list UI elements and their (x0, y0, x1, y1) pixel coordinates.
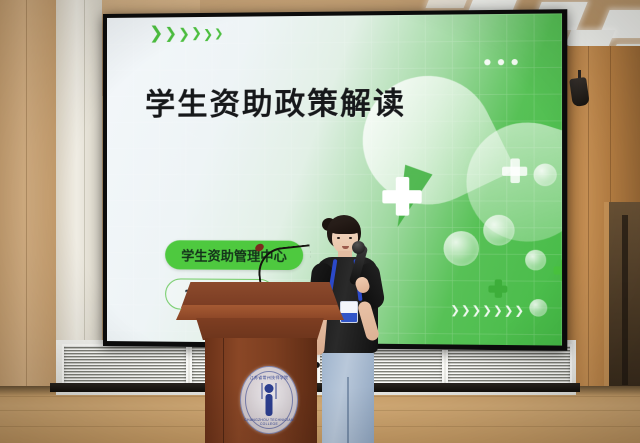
dot (511, 59, 517, 65)
chevron-right-icon: ❯ (504, 305, 514, 316)
chevron-right-icon: ❯ (472, 305, 482, 316)
podium-top (181, 282, 339, 308)
dot (484, 59, 490, 65)
podium-lip (176, 305, 344, 320)
door-gap (622, 215, 628, 385)
dot (498, 59, 504, 65)
chevron-right-icon: ❯ (461, 305, 471, 316)
emblem-bottom-text: CHANGZHOU TECHNICIAN COLLEGE (241, 418, 297, 426)
school-emblem: 江苏省常州技师学院 CHANGZHOU TECHNICIAN COLLEGE (240, 366, 298, 434)
chevron-right-icon: ❯ (203, 27, 213, 39)
bubble (444, 231, 479, 266)
chevron-group-top: ❯ ❯ ❯ ❯ ❯ ❯ (149, 25, 223, 43)
door-frame (604, 202, 609, 392)
chevron-group-bottom: ❯ ❯ ❯ ❯ ❯ ❯ ❯ (450, 305, 524, 317)
chevron-right-icon: ❯ (514, 305, 524, 316)
fringe (330, 221, 360, 234)
auditorium-photo: ❯ ❯ ❯ ❯ ❯ ❯ 学生资助政策解读 学生资助管理中心 2025年5月 ❯ (0, 0, 640, 443)
dot-group (484, 59, 518, 65)
chevron-right-icon: ❯ (493, 305, 503, 316)
bubble (525, 250, 546, 271)
emblem-top-text: 江苏省常州技师学院 (241, 375, 297, 381)
podium-mid (192, 318, 328, 340)
chevron-right-icon: ❯ (191, 27, 202, 40)
chevron-right-icon: ❯ (450, 305, 460, 316)
emblem-figure-icon (265, 384, 274, 416)
bubble (529, 299, 547, 317)
eye (337, 237, 340, 239)
chevron-right-icon: ❯ (214, 28, 223, 39)
chevron-right-icon: ❯ (178, 27, 190, 41)
jeans (322, 349, 374, 443)
chevron-right-icon: ❯ (149, 25, 163, 42)
bubble (534, 164, 557, 187)
chevron-right-icon: ❯ (482, 305, 492, 316)
chevron-right-icon: ❯ (164, 26, 177, 41)
left-wood-wall (0, 0, 60, 400)
eye (349, 237, 352, 239)
bubble (483, 215, 514, 246)
slide-title: 学生资助政策解读 (145, 78, 406, 124)
ceiling-light-panel (426, 0, 473, 8)
